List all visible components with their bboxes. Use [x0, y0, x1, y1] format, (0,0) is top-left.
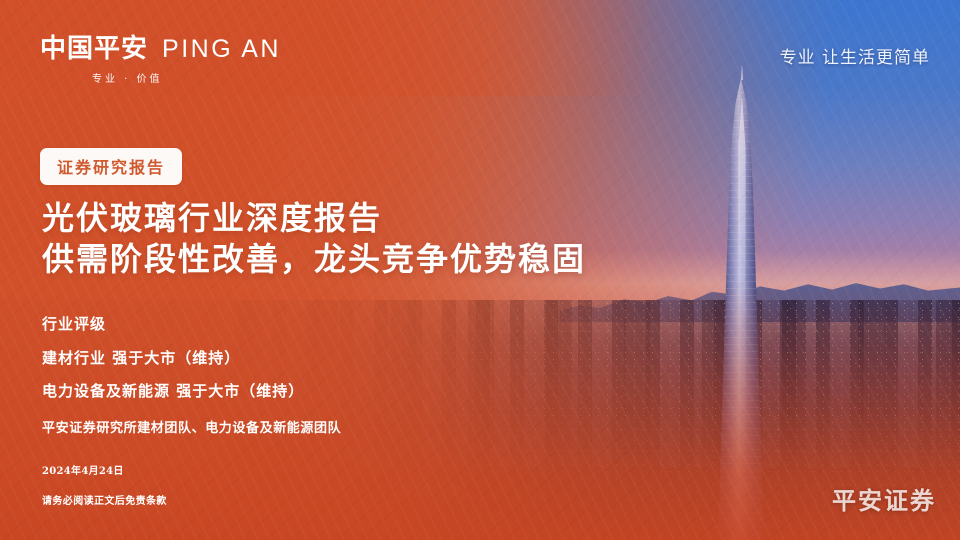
- cover-content: 中国平安 PING AN 专业 · 价值 专业 让生活更简单 证券研究报告 光伏…: [0, 0, 960, 540]
- pingan-logo: 中国平安 PING AN 专业 · 价值: [40, 36, 281, 85]
- rating-item-building-materials: 建材行业 强于大市（维持）: [42, 347, 304, 368]
- rating-item-power-equipment: 电力设备及新能源 强于大市（维持）: [42, 380, 304, 401]
- report-title: 光伏玻璃行业深度报告 供需阶段性改善，龙头竞争优势稳固: [42, 198, 586, 280]
- report-type-badge: 证券研究报告: [40, 148, 182, 185]
- logo-english-wordmark: PING AN: [162, 37, 281, 62]
- publish-date: 2024年4月24日: [42, 462, 124, 477]
- pingan-securities-watermark: 平安证券: [832, 481, 936, 516]
- title-line-2: 供需阶段性改善，龙头竞争优势稳固: [42, 239, 586, 280]
- research-team-line: 平安证券研究所建材团队、电力设备及新能源团队: [42, 417, 341, 436]
- title-line-1: 光伏玻璃行业深度报告: [42, 198, 586, 239]
- logo-tagline: 专业 · 价值: [92, 70, 281, 85]
- corporate-slogan: 专业 让生活更简单: [780, 43, 930, 68]
- report-cover-slide: 中国平安 PING AN 专业 · 价值 专业 让生活更简单 证券研究报告 光伏…: [0, 0, 960, 540]
- disclaimer-note: 请务必阅读正文后免责条款: [42, 492, 167, 507]
- industry-rating-section: 行业评级 建材行业 强于大市（维持） 电力设备及新能源 强于大市（维持）: [42, 313, 304, 413]
- logo-wordmark-row: 中国平安 PING AN: [40, 36, 281, 62]
- logo-chinese-wordmark: 中国平安: [40, 36, 148, 62]
- rating-heading: 行业评级: [42, 313, 304, 334]
